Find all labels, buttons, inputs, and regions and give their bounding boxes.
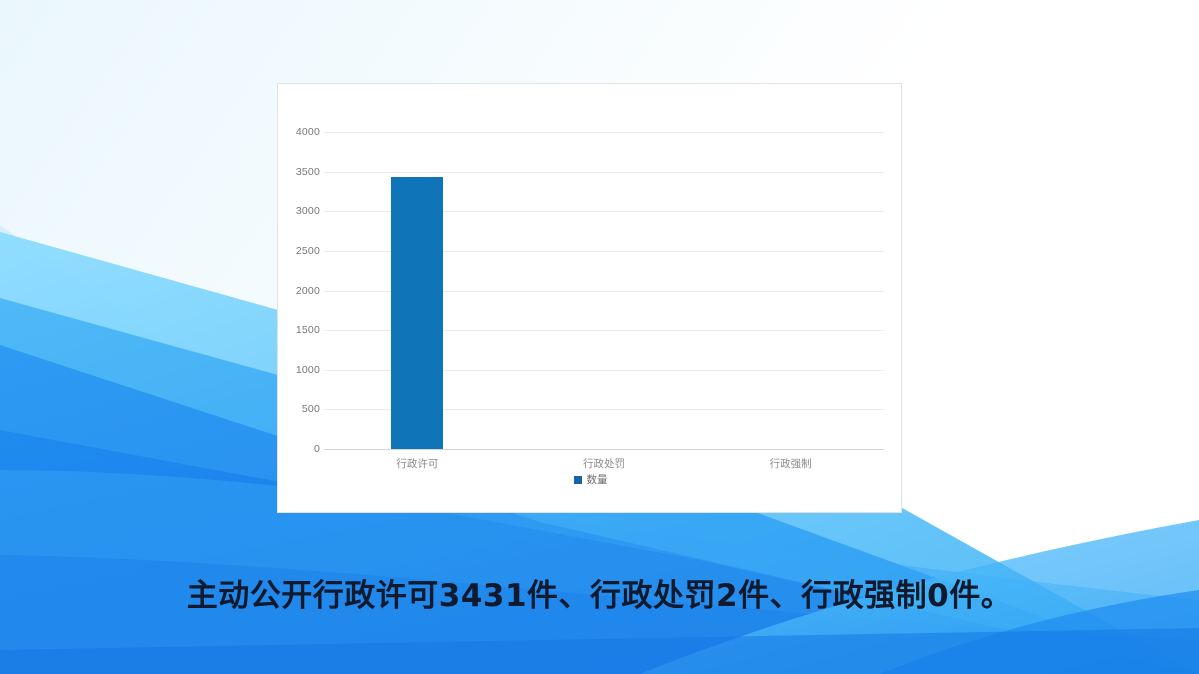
slide-canvas: 05001000150020002500300035004000 行政许可行政处… xyxy=(0,0,1199,674)
slide-caption: 主动公开行政许可3431件、行政处罚2件、行政强制0件。 xyxy=(0,570,1199,615)
chart-panel[interactable]: 05001000150020002500300035004000 行政许可行政处… xyxy=(277,83,902,513)
y-axis-tick-label: 0 xyxy=(274,443,320,455)
legend-swatch-icon xyxy=(574,476,582,484)
x-axis-label-2: 行政处罚 xyxy=(583,456,625,471)
chart-legend[interactable]: 数量 xyxy=(278,472,903,487)
y-axis-tick-label: 3500 xyxy=(274,166,320,178)
y-axis-tick-label: 4000 xyxy=(274,126,320,138)
gridline xyxy=(324,172,884,173)
legend-label: 数量 xyxy=(587,472,608,487)
y-axis-tick-label: 500 xyxy=(274,403,320,415)
y-axis-tick-label: 1000 xyxy=(274,364,320,376)
y-axis-tick-label: 2000 xyxy=(274,285,320,297)
gridline xyxy=(324,132,884,133)
y-axis-tick-label: 1500 xyxy=(274,324,320,336)
x-axis-label-1: 行政许可 xyxy=(396,456,438,471)
y-axis-tick-label: 3000 xyxy=(274,205,320,217)
chart-plot-area: 05001000150020002500300035004000 行政许可行政处… xyxy=(278,84,903,514)
y-axis-tick-label: 2500 xyxy=(274,245,320,257)
x-axis-label-3: 行政强制 xyxy=(770,456,812,471)
bar-1[interactable] xyxy=(391,177,443,449)
x-axis-line xyxy=(324,449,884,450)
